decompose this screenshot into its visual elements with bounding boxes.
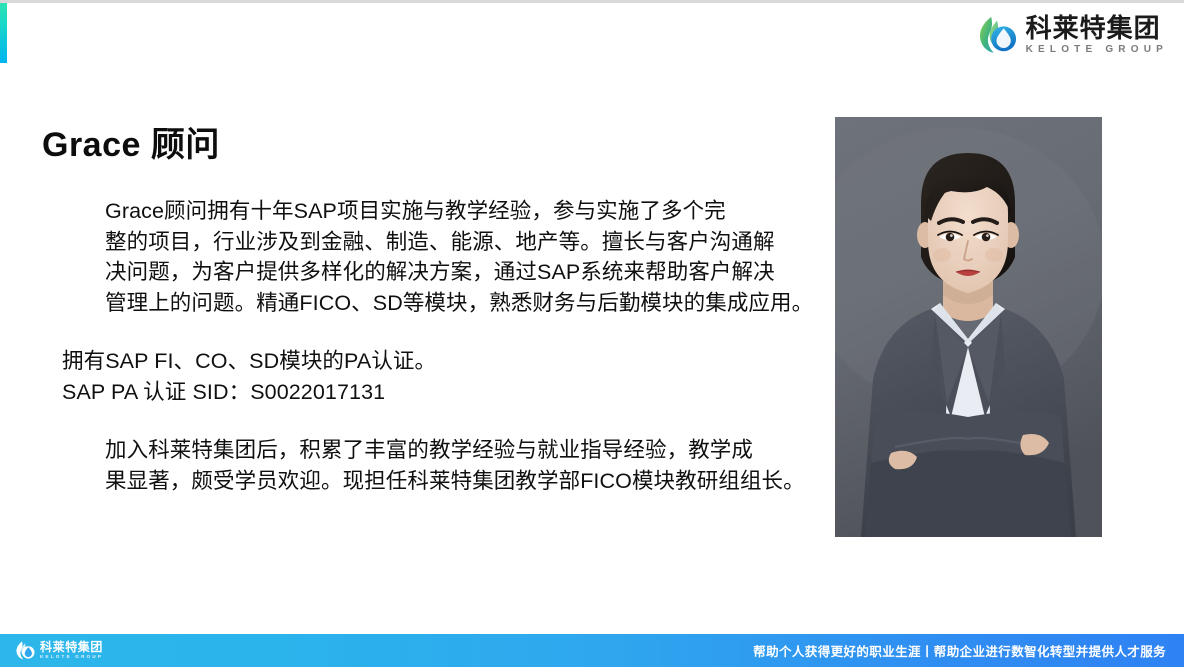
header-logo-name-cn: 科莱特集团	[1026, 15, 1168, 42]
paragraph-intro-line-2: 整的项目，行业涉及到金融、制造、能源、地产等。擅长与客户沟通解	[62, 227, 822, 258]
body-text-column: Grace顾问拥有十年SAP项目实施与教学经验，参与实施了多个完 整的项目，行业…	[62, 196, 822, 496]
kelote-flame-droplet-icon	[975, 14, 1017, 56]
paragraph-spacer-1	[62, 318, 822, 346]
footer-logo: 科莱特集团 KELOTE GROUP	[14, 640, 103, 661]
header-logo-wordmark: 科莱特集团 KELOTE GROUP	[1026, 15, 1168, 55]
paragraph-experience-line-2: 果显著，颇受学员欢迎。现担任科莱特集团教学部FICO模块教研组组长。	[62, 466, 822, 497]
header-logo-name-en: KELOTE GROUP	[1026, 45, 1168, 55]
footer-bar: 科莱特集团 KELOTE GROUP 帮助个人获得更好的职业生涯丨帮助企业进行数…	[0, 634, 1184, 667]
portrait-photo	[835, 117, 1102, 537]
certification-modules-line: 拥有SAP FI、CO、SD模块的PA认证。	[62, 346, 822, 377]
paragraph-experience: 加入科莱特集团后，积累了丰富的教学经验与就业指导经验，教学成 果显著，颇受学员欢…	[62, 435, 822, 496]
paragraph-experience-line-1: 加入科莱特集团后，积累了丰富的教学经验与就业指导经验，教学成	[62, 435, 822, 466]
footer-logo-name-cn: 科莱特集团	[40, 641, 103, 654]
accent-bar	[0, 3, 7, 63]
certification-sid-line: SAP PA 认证 SID：S0022017131	[62, 377, 822, 408]
footer-logo-name-en: KELOTE GROUP	[40, 655, 103, 660]
paragraph-spacer-2	[62, 407, 822, 435]
paragraph-intro-line-3: 决问题，为客户提供多样化的解决方案，通过SAP系统来帮助客户解决	[62, 257, 822, 288]
paragraph-intro-line-1: Grace顾问拥有十年SAP项目实施与教学经验，参与实施了多个完	[62, 196, 822, 227]
kelote-flame-droplet-icon-white	[14, 640, 35, 661]
paragraph-certifications: 拥有SAP FI、CO、SD模块的PA认证。 SAP PA 认证 SID：S00…	[62, 346, 822, 407]
slide-root: 科莱特集团 KELOTE GROUP Grace 顾问 Grace顾问拥有十年S…	[0, 0, 1184, 667]
footer-tagline: 帮助个人获得更好的职业生涯丨帮助企业进行数智化转型并提供人才服务	[753, 641, 1166, 660]
header-logo: 科莱特集团 KELOTE GROUP	[975, 14, 1168, 56]
paragraph-intro-line-4: 管理上的问题。精通FICO、SD等模块，熟悉财务与后勤模块的集成应用。	[62, 288, 822, 319]
page-title: Grace 顾问	[42, 126, 220, 165]
footer-logo-wordmark: 科莱特集团 KELOTE GROUP	[40, 641, 103, 659]
paragraph-intro: Grace顾问拥有十年SAP项目实施与教学经验，参与实施了多个完 整的项目，行业…	[62, 196, 822, 318]
slide-top-rule	[0, 0, 1184, 3]
